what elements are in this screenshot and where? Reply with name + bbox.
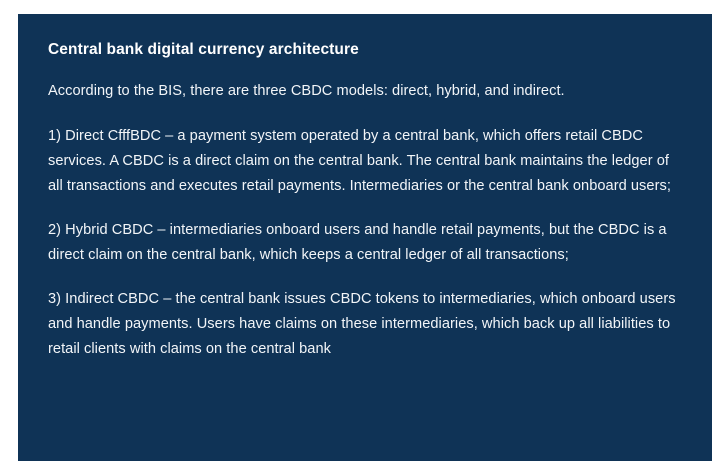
model-paragraph-direct: 1) Direct CfffBDC – a payment system ope… [48, 124, 684, 199]
cbdc-architecture-panel: Central bank digital currency architectu… [18, 14, 712, 461]
page-title: Central bank digital currency architectu… [48, 40, 684, 60]
model-paragraph-hybrid: 2) Hybrid CBDC – intermediaries onboard … [48, 218, 684, 268]
slide-canvas: Central bank digital currency architectu… [0, 0, 722, 475]
model-paragraph-indirect: 3) Indirect CBDC – the central bank issu… [48, 287, 684, 362]
intro-paragraph: According to the BIS, there are three CB… [48, 79, 684, 104]
